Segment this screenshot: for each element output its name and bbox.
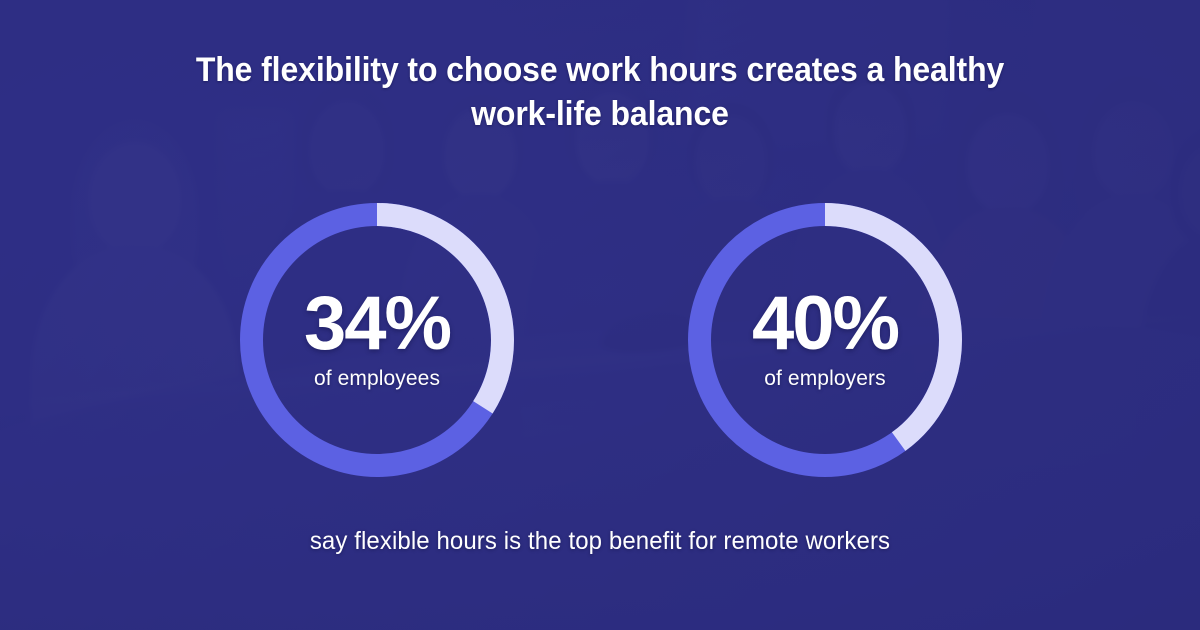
donut-chart-group: 34% of employees 40% of employers — [0, 203, 1200, 479]
caption-text: say flexible hours is the top benefit fo… — [24, 527, 1176, 556]
content-layer: The flexibility to choose work hours cre… — [0, 0, 1200, 630]
donut-chart-employers: 40% of employers — [688, 203, 962, 477]
infographic-canvas: The flexibility to choose work hours cre… — [0, 0, 1200, 630]
page-title-line-1: The flexibility to choose work hours cre… — [196, 51, 1004, 89]
donut-chart-employees-svg — [240, 203, 514, 477]
page-title-line-2: work-life balance — [471, 95, 729, 133]
donut-chart-employers-svg — [688, 203, 962, 477]
donut-chart-employees: 34% of employees — [240, 203, 514, 477]
page-title: The flexibility to choose work hours cre… — [177, 48, 1023, 136]
